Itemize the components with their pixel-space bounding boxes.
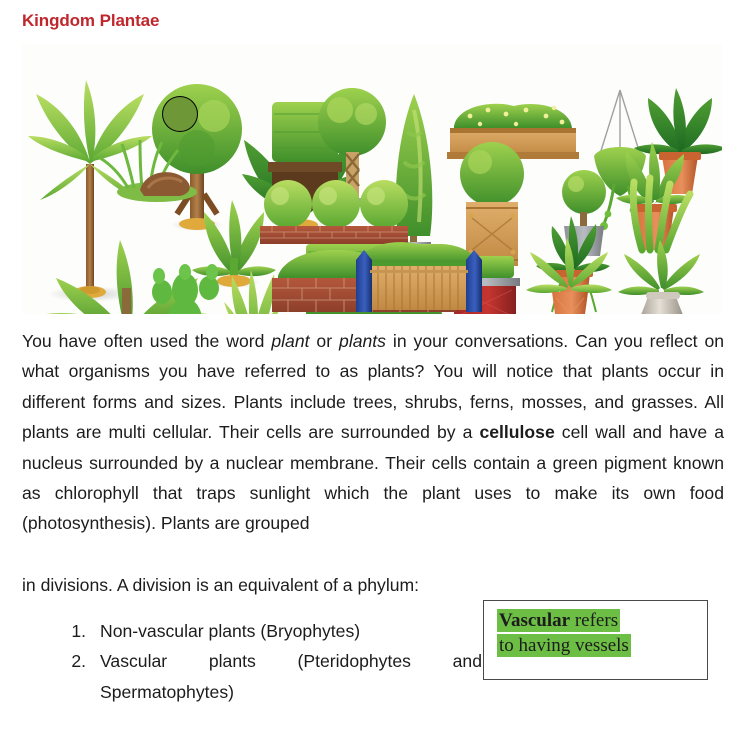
italic-plants-plural: plants	[339, 331, 386, 351]
callout-line-2-text: to having vessels	[497, 634, 631, 657]
kingdom-plantae-illustration	[22, 44, 722, 314]
italic-plant-singular: plant	[271, 331, 309, 351]
callout-line-1-rest: refers	[570, 610, 618, 631]
list-item-label: Non-vascular plants (Bryophytes)	[100, 621, 360, 641]
body-paragraph-tail: in divisions. A division is an equivalen…	[22, 570, 482, 600]
list-item-number: 1.	[62, 616, 86, 646]
plants-collage-graphic	[22, 44, 722, 314]
callout-line-1: Vascular refers	[497, 608, 707, 633]
list-item: 1. Non-vascular plants (Bryophytes)	[22, 616, 482, 646]
callout-term: Vascular	[499, 610, 570, 631]
body-text-part-1: You have often used the word	[22, 331, 271, 351]
callout-line-2: to having vessels	[497, 633, 707, 658]
list-item-label-line2: Spermatophytes)	[100, 682, 234, 702]
list-item: 2. Vascular plants (Pteridophytes and Sp…	[22, 646, 482, 707]
page-title: Kingdom Plantae	[22, 10, 159, 32]
body-paragraph: You have often used the word plant or pl…	[22, 326, 724, 539]
three-shrubs-brick-wall	[260, 180, 408, 244]
bold-cellulose: cellulose	[479, 422, 554, 442]
list-item-label-line1: Vascular plants (Pteridophytes and	[100, 646, 482, 676]
vascular-definition-callout: Vascular refers to having vessels	[483, 600, 708, 680]
column-topiary-wooden-pot	[460, 142, 524, 266]
list-item-number: 2.	[62, 646, 86, 676]
body-text-mid-1: or	[310, 331, 340, 351]
plant-divisions-list: 1. Non-vascular plants (Bryophytes) 2. V…	[22, 616, 482, 707]
